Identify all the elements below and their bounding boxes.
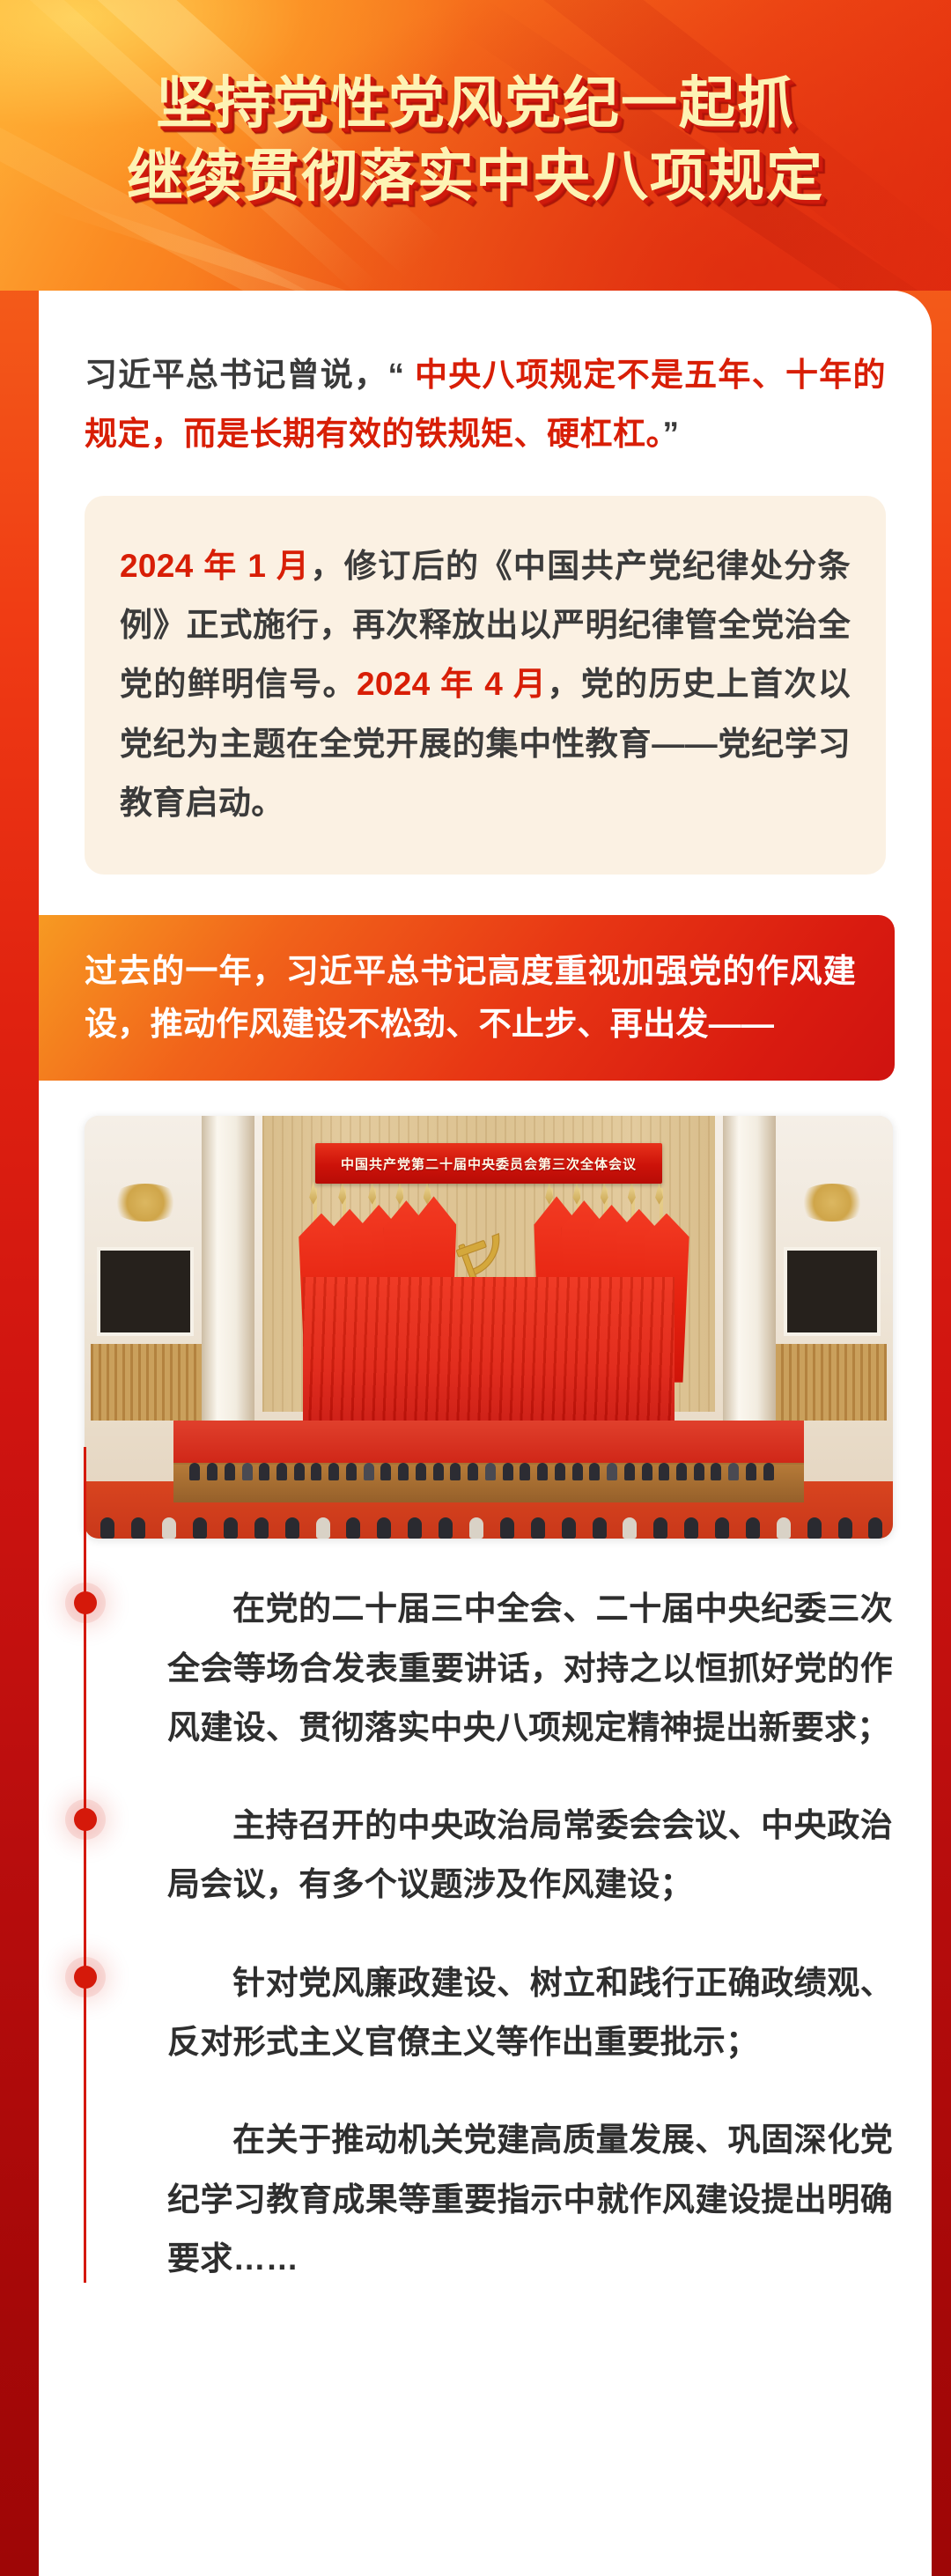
audience-figure <box>500 1517 514 1539</box>
delegate-figure <box>659 1463 669 1480</box>
quote-open-mark: “ <box>387 357 404 393</box>
header-banner: 坚持党性党风党纪一起抓 继续贯彻落实中央八项规定 <box>0 0 951 291</box>
audience-figure <box>469 1517 483 1539</box>
hall-banner: 中国共产党第二十届中央委员会第三次全体会议 <box>315 1143 663 1184</box>
delegate-figure <box>346 1463 357 1480</box>
audience-figure <box>653 1517 667 1539</box>
list-item-text: 在党的二十届三中全会、二十届中央纪委三次全会等场合发表重要讲话，对持之以恒抓好党… <box>167 1579 893 1757</box>
audience-figure <box>377 1517 391 1539</box>
delegate-figure <box>468 1463 478 1480</box>
audience-figure <box>285 1517 299 1539</box>
wall-panel <box>784 1247 881 1336</box>
quote-lead-text: 习近平总书记曾说， <box>85 357 387 393</box>
delegate-figure <box>624 1463 635 1480</box>
list-item: 在关于推动机关党建高质量发展、巩固深化党纪学习教育成果等重要指示中就作风建设提出… <box>85 2110 893 2304</box>
audience-figure <box>316 1517 330 1539</box>
wall-wood-panel <box>773 1344 887 1420</box>
audience-figure <box>777 1517 791 1539</box>
delegate-figure <box>311 1463 321 1480</box>
audience-figure <box>807 1517 822 1539</box>
plenary-session-photo: 中国共产党第二十届中央委员会第三次全体会议 <box>85 1116 893 1539</box>
quote-close-mark: ” <box>663 416 680 452</box>
list-item: 主持召开的中央政治局常委会会议、中央政治局会议，有多个议题涉及作风建设； <box>85 1796 893 1953</box>
delegate-figure <box>189 1463 200 1480</box>
audience-figure <box>254 1517 269 1539</box>
list-item-text: 针对党风廉政建设、树立和践行正确政绩观、反对形式主义官僚主义等作出重要批示； <box>167 1953 893 2072</box>
highlight-banner: 过去的一年，习近平总书记高度重视加强党的作风建设，推动作风建设不松劲、不止步、再… <box>39 915 895 1081</box>
audience-figure <box>562 1517 576 1539</box>
delegate-figure <box>380 1463 391 1480</box>
delegate-figure <box>276 1463 287 1480</box>
bullet-dot-icon <box>74 1808 97 1831</box>
page-title: 坚持党性党风党纪一起抓 继续贯彻落实中央八项规定 <box>0 67 951 213</box>
list-item-text: 主持召开的中央政治局常委会会议、中央政治局会议，有多个议题涉及作风建设； <box>167 1796 893 1915</box>
delegate-figure <box>642 1463 652 1480</box>
list-item: 针对党风廉政建设、树立和践行正确政绩观、反对形式主义官僚主义等作出重要批示； <box>85 1953 893 2111</box>
list-item: 在党的二十届三中全会、二十届中央纪委三次全会等场合发表重要讲话，对持之以恒抓好党… <box>85 1579 893 1796</box>
delegate-figure <box>572 1463 583 1480</box>
audience-figure <box>131 1517 145 1539</box>
delegate-figure <box>676 1463 687 1480</box>
audience-figure <box>838 1517 852 1539</box>
delegate-figure <box>416 1463 426 1480</box>
stage-drape <box>303 1277 675 1429</box>
delegate-figure <box>450 1463 461 1480</box>
delegate-figure <box>433 1463 444 1480</box>
quote-block: 习近平总书记曾说，“ 中央八项规定不是五年、十年的规定，而是长期有效的铁规矩、硬… <box>39 291 932 489</box>
delegate-figure <box>294 1463 305 1480</box>
photo-container: 中国共产党第二十届中央委员会第三次全体会议 <box>39 1081 932 1539</box>
delegate-figure <box>537 1463 548 1480</box>
delegate-figure <box>259 1463 269 1480</box>
audience-figure <box>162 1517 176 1539</box>
delegate-figure <box>398 1463 409 1480</box>
timeline-list: 在党的二十届三中全会、二十届中央纪委三次全会等场合发表重要讲话，对持之以恒抓好党… <box>39 1539 932 2304</box>
audience-figure <box>593 1517 607 1539</box>
note-date-1: 2024 年 1 月 <box>120 548 310 584</box>
wall-ornament-icon <box>796 1184 869 1222</box>
delegate-figure <box>763 1463 774 1480</box>
audience-figure <box>746 1517 760 1539</box>
audience-figure <box>408 1517 422 1539</box>
note-paragraph: 2024 年 1 月，修订后的《中国共产党纪律处分条例》正式施行，再次释放出以严… <box>120 536 851 833</box>
audience-figure <box>193 1517 207 1539</box>
delegate-figure <box>364 1463 374 1480</box>
delegate-figure <box>589 1463 600 1480</box>
audience-figure <box>224 1517 238 1539</box>
note-date-2: 2024 年 4 月 <box>357 666 547 702</box>
list-item-text: 在关于推动机关党建高质量发展、巩固深化党纪学习教育成果等重要指示中就作风建设提出… <box>167 2110 893 2288</box>
delegate-figure <box>503 1463 513 1480</box>
delegate-figure <box>728 1463 739 1480</box>
hall-pillar <box>202 1116 254 1421</box>
hall-banner-text: 中国共产党第二十届中央委员会第三次全体会议 <box>341 1155 637 1173</box>
wall-wood-panel <box>91 1344 204 1420</box>
wall-ornament-icon <box>109 1184 182 1222</box>
delegate-figure <box>225 1463 235 1480</box>
audience-figure <box>346 1517 360 1539</box>
audience-figure <box>531 1517 545 1539</box>
delegate-figure <box>520 1463 530 1480</box>
wall-panel <box>97 1247 194 1336</box>
audience-figure <box>868 1517 882 1539</box>
audience-figure <box>623 1517 637 1539</box>
stage-platform <box>173 1421 804 1463</box>
delegate-figure <box>328 1463 339 1480</box>
infographic-page: 坚持党性党风党纪一起抓 继续贯彻落实中央八项规定 习近平总书记曾说，“ 中央八项… <box>0 0 951 2576</box>
delegate-figure <box>607 1463 617 1480</box>
audience-figure <box>684 1517 698 1539</box>
delegate-figure <box>207 1463 217 1480</box>
delegate-figure <box>242 1463 253 1480</box>
delegate-figure <box>555 1463 565 1480</box>
audience-figure <box>439 1517 453 1539</box>
bullet-dot-icon <box>74 1591 97 1614</box>
note-box: 2024 年 1 月，修订后的《中国共产党纪律处分条例》正式施行，再次释放出以严… <box>85 496 886 875</box>
content-card: 习近平总书记曾说，“ 中央八项规定不是五年、十年的规定，而是长期有效的铁规矩、硬… <box>39 291 932 2576</box>
delegate-figure <box>694 1463 704 1480</box>
audience-figure <box>100 1517 114 1539</box>
bullet-dot-icon <box>74 1966 97 1989</box>
delegate-figure <box>485 1463 496 1480</box>
hall-pillar <box>723 1116 776 1421</box>
delegate-figure <box>711 1463 721 1480</box>
delegate-figure <box>746 1463 756 1480</box>
audience-figure <box>715 1517 729 1539</box>
page-title-line-2: 继续贯彻落实中央八项规定 <box>0 140 951 213</box>
page-title-line-1: 坚持党性党风党纪一起抓 <box>0 67 951 140</box>
highlight-banner-text: 过去的一年，习近平总书记高度重视加强党的作风建设，推动作风建设不松劲、不止步、再… <box>85 945 856 1051</box>
